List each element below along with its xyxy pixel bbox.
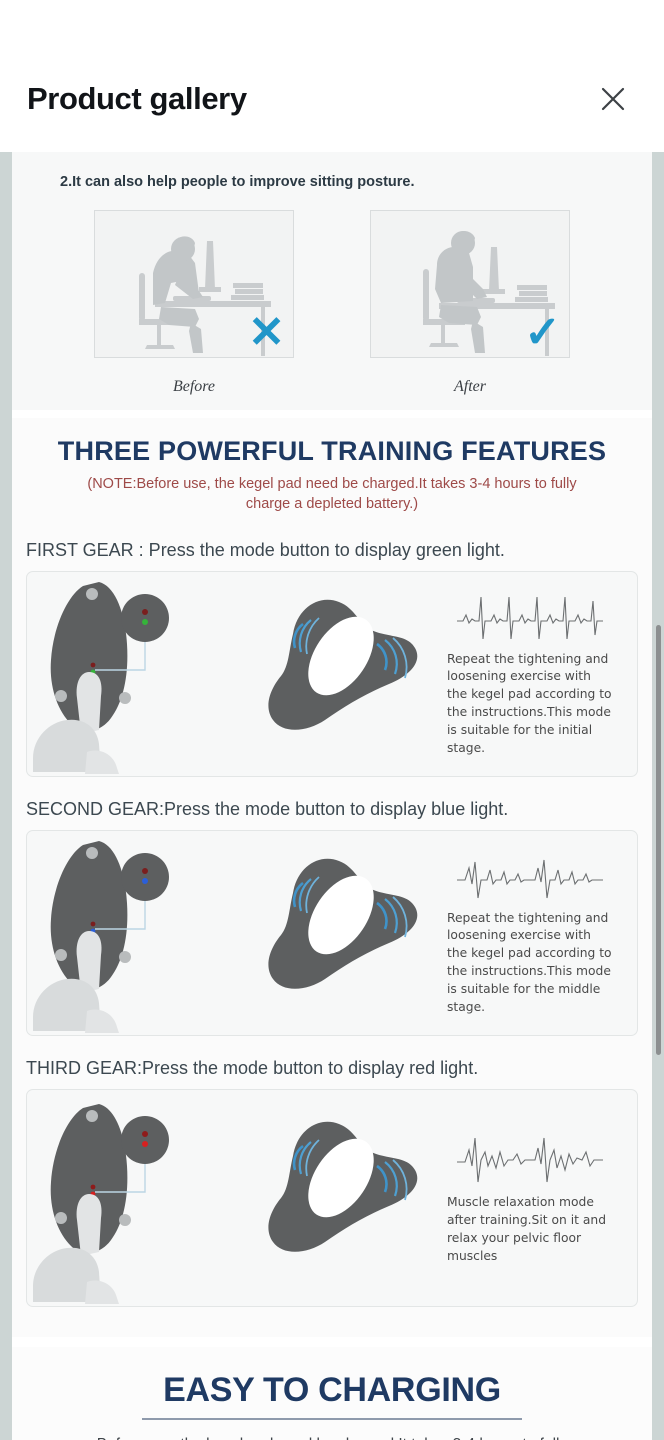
- posture-heading: 2.It can also help people to improve sit…: [60, 174, 652, 190]
- charging-subtitle: Before use, the kegel pad need be charge…: [12, 1434, 652, 1440]
- gear-description-third: Muscle relaxation mode after training.Si…: [447, 1130, 627, 1265]
- scrollbar-thumb[interactable]: [656, 625, 661, 1055]
- posture-comparison-row: ✕ Before: [12, 210, 652, 396]
- gear-description-first: Repeat the tightening and loosening exer…: [447, 591, 627, 758]
- gear-card-first: Repeat the tightening and loosening exer…: [26, 571, 638, 777]
- posture-section: 2.It can also help people to improve sit…: [12, 152, 652, 410]
- check-icon: ✓: [524, 311, 561, 355]
- gear-pad-button-illustration-third: [27, 1090, 237, 1306]
- gear-pad-button-illustration-second: [27, 831, 237, 1035]
- charging-section: EASY TO CHARGING Before use, the kegel p…: [12, 1347, 652, 1440]
- posture-before: ✕ Before: [94, 210, 294, 396]
- gear-pad-vibration-illustration-first: [237, 572, 447, 776]
- modal-header: Product gallery: [0, 0, 664, 152]
- posture-after-caption: After: [370, 378, 570, 396]
- gear-pad-vibration-illustration-second: [237, 831, 447, 1035]
- cross-icon: ✕: [248, 311, 285, 355]
- gear-card-third: Muscle relaxation mode after training.Si…: [26, 1089, 638, 1307]
- gear-label-second: SECOND GEAR:Press the mode button to dis…: [12, 795, 652, 830]
- close-icon[interactable]: [590, 53, 636, 99]
- waveform-regular-icon: [455, 591, 605, 643]
- gear-card-second: Repeat the tightening and loosening exer…: [26, 830, 638, 1036]
- gallery-content-column: 2.It can also help people to improve sit…: [12, 152, 652, 1440]
- posture-after: ✓ After: [370, 210, 570, 396]
- gear-description-text-third: Muscle relaxation mode after training.Si…: [447, 1194, 613, 1265]
- charging-title-underline: [142, 1418, 522, 1420]
- gear-pad-button-illustration-first: [27, 572, 237, 776]
- waveform-irregular-icon: [455, 1130, 605, 1186]
- gear-description-second: Repeat the tightening and loosening exer…: [447, 850, 627, 1017]
- gallery-scroll-area[interactable]: 2.It can also help people to improve sit…: [0, 152, 664, 1440]
- posture-after-image: ✓: [370, 210, 570, 358]
- gear-label-first: FIRST GEAR : Press the mode button to di…: [12, 536, 652, 571]
- gear-label-third: THIRD GEAR:Press the mode button to disp…: [12, 1054, 652, 1089]
- features-section: THREE POWERFUL TRAINING FEATURES (NOTE:B…: [12, 418, 652, 1337]
- gear-description-text-second: Repeat the tightening and loosening exer…: [447, 910, 613, 1017]
- features-title: THREE POWERFUL TRAINING FEATURES: [12, 430, 652, 475]
- waveform-mixed-icon: [455, 850, 605, 902]
- vertical-scrollbar[interactable]: [652, 152, 664, 1440]
- charging-title: EASY TO CHARGING: [12, 1371, 652, 1410]
- posture-before-caption: Before: [94, 378, 294, 396]
- page-title: Product gallery: [27, 35, 247, 117]
- gear-description-text-first: Repeat the tightening and loosening exer…: [447, 651, 613, 758]
- product-gallery-screen: Product gallery 2.It can also help peopl…: [0, 0, 664, 1440]
- features-note: (NOTE:Before use, the kegel pad need be …: [12, 475, 652, 536]
- gear-pad-vibration-illustration-third: [237, 1090, 447, 1306]
- posture-before-image: ✕: [94, 210, 294, 358]
